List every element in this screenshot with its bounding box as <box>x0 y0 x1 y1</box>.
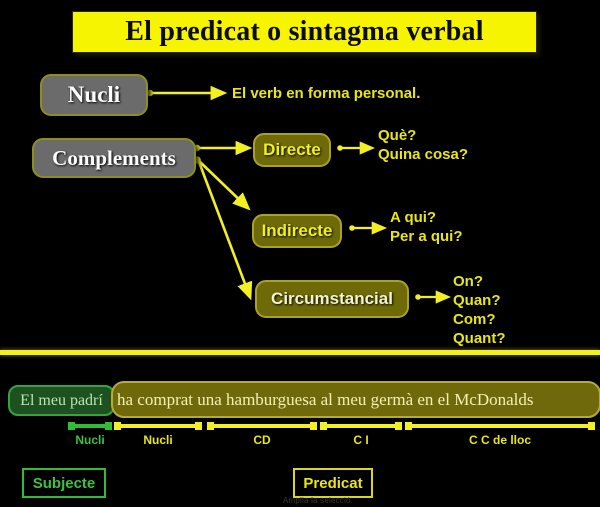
arrow-complements-to-circumstancial <box>199 162 250 297</box>
example-subject-box[interactable]: El meu padrí <box>8 385 115 416</box>
node-complements-label: Complements <box>52 146 176 171</box>
arrow-dot-circumstancial <box>415 294 421 300</box>
node-circumstancial-label: Circumstancial <box>271 289 393 309</box>
node-complements[interactable]: Complements <box>32 138 196 178</box>
segment-cap-right <box>588 422 595 430</box>
node-directe-label: Directe <box>263 140 321 160</box>
example-predicate-box[interactable]: ha comprat una hamburguesa al meu germà … <box>111 381 600 418</box>
segment-cap-right <box>195 422 202 430</box>
segment-subject-nucli: Nucli <box>68 424 112 428</box>
segment-bar <box>207 424 317 428</box>
segment-bar <box>405 424 595 428</box>
node-indirecte[interactable]: Indirecte <box>252 214 342 248</box>
segment-bar <box>320 424 402 428</box>
segment-label: CD <box>207 433 317 447</box>
annotation-nucli: El verb en forma personal. <box>232 84 420 103</box>
segment-bar <box>114 424 202 428</box>
annotation-indirecte: A qui? Per a qui? <box>390 208 463 246</box>
segment-label: Nucli <box>68 433 112 447</box>
slide-canvas: El predicat o sintagma verbal Nucli Comp… <box>0 0 600 507</box>
segment-cap-left <box>68 422 75 430</box>
node-indirecte-label: Indirecte <box>262 221 333 241</box>
segment-cd: CD <box>207 424 317 428</box>
segment-label: C C de lloc <box>405 433 595 447</box>
segment-cap-left <box>114 422 121 430</box>
arrow-dot-directe <box>337 145 343 151</box>
node-nucli[interactable]: Nucli <box>40 74 148 116</box>
section-divider <box>0 350 600 355</box>
arrow-dot-indirecte <box>349 225 355 231</box>
node-circumstancial[interactable]: Circumstancial <box>255 280 409 318</box>
segment-cap-left <box>207 422 214 430</box>
segment-cap-right <box>395 422 402 430</box>
segment-cap-right <box>310 422 317 430</box>
segment-cap-right <box>105 422 112 430</box>
segment-cap-left <box>320 422 327 430</box>
segment-predicate-nucli: Nucli <box>114 424 202 428</box>
node-nucli-label: Nucli <box>68 82 120 108</box>
label-subjecte[interactable]: Subjecte <box>22 468 106 498</box>
segment-ci: C I <box>320 424 402 428</box>
segment-label: C I <box>320 433 402 447</box>
footnote-text: Amplia la selecció <box>283 496 351 505</box>
label-predicat[interactable]: Predicat <box>293 468 373 498</box>
label-predicat-text: Predicat <box>303 475 362 492</box>
annotation-directe: Què? Quina cosa? <box>378 126 468 164</box>
example-subject-text: El meu padrí <box>20 392 103 410</box>
node-directe[interactable]: Directe <box>253 133 331 167</box>
segment-cap-left <box>405 422 412 430</box>
annotation-circumstancial: On? Quan? Com? Quant? <box>453 272 506 348</box>
segment-label: Nucli <box>114 433 202 447</box>
segment-cc-lloc: C C de lloc <box>405 424 595 428</box>
example-predicate-text: ha comprat una hamburguesa al meu germà … <box>113 390 534 410</box>
label-subjecte-text: Subjecte <box>33 475 96 492</box>
